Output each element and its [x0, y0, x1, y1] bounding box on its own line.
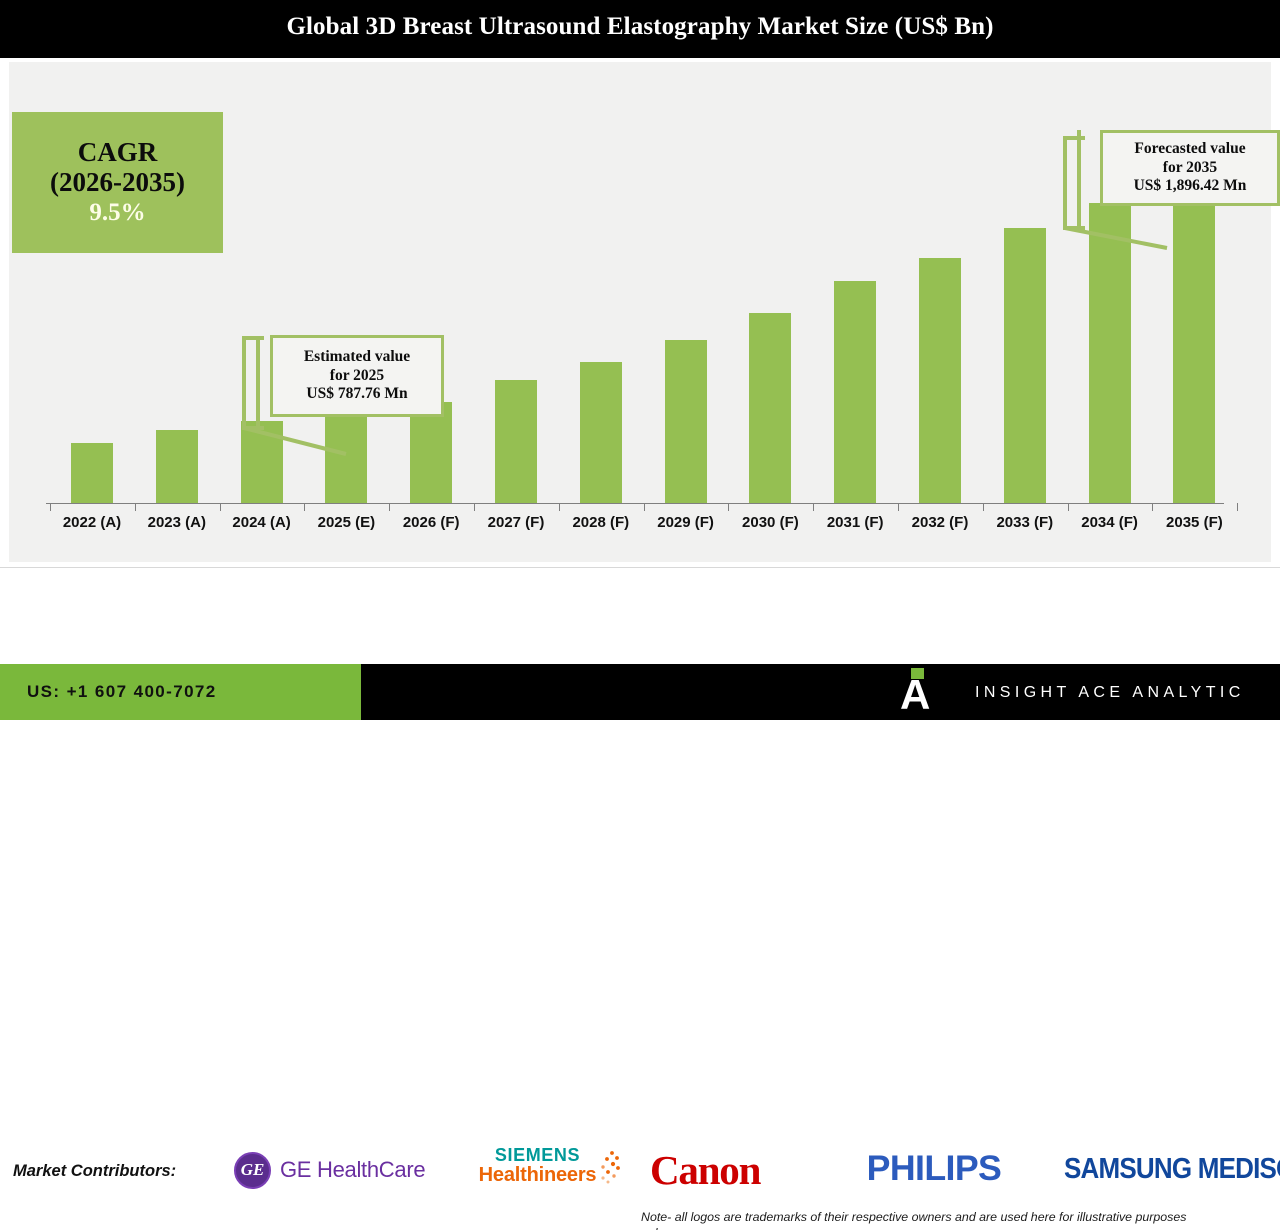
brand-name: INSIGHT ACE ANALYTIC [975, 684, 1245, 702]
forecasted-value-callout: Forecasted value for 2035 US$ 1,896.42 M… [1100, 130, 1280, 206]
ge-healthcare-logo: GE GE HealthCare [234, 1151, 425, 1189]
axis-tick [1237, 503, 1238, 511]
trademark-note-continued: only. [641, 1226, 666, 1230]
x-axis-label-2025: 2025 (E) [304, 514, 389, 531]
bar-2030 [749, 313, 791, 503]
x-axis-label-2024: 2024 (A) [219, 514, 304, 531]
bar-2028 [580, 362, 622, 503]
axis-tick [1152, 503, 1153, 511]
page-title: Global 3D Breast Ultrasound Elastography… [0, 13, 1280, 41]
market-contributors-label: Market Contributors: [13, 1162, 176, 1181]
bar-2033 [1004, 228, 1046, 503]
forecasted-callout-line1: Forecasted value [1134, 140, 1245, 159]
x-axis-label-2029: 2029 (F) [643, 514, 728, 531]
x-axis-line [46, 503, 1224, 504]
axis-tick [644, 503, 645, 511]
axis-tick [389, 503, 390, 511]
x-axis-label-2032: 2032 (F) [898, 514, 983, 531]
x-axis-label-2030: 2030 (F) [728, 514, 813, 531]
samsung-medison-logo: SAMSUNG MEDISON [1064, 1151, 1280, 1186]
cagr-label: CAGR [78, 137, 158, 167]
axis-tick [304, 503, 305, 511]
x-axis-label-2033: 2033 (F) [982, 514, 1067, 531]
phone-block: US: +1 607 400-7072 [0, 664, 361, 720]
x-axis-label-2035: 2035 (F) [1152, 514, 1237, 531]
brand-square-accent [911, 668, 924, 679]
x-axis-label-2031: 2031 (F) [813, 514, 898, 531]
ge-healthcare-wordmark: GE HealthCare [280, 1157, 425, 1183]
cagr-value: 9.5% [89, 198, 145, 228]
x-axis-label-2026: 2026 (F) [389, 514, 474, 531]
siemens-dots-icon [592, 1150, 622, 1184]
siemens-healthineers-logo: SIEMENS Healthineers [455, 1146, 620, 1186]
x-axis-label-2023: 2023 (A) [134, 514, 219, 531]
axis-tick [559, 503, 560, 511]
x-axis-label-2022: 2022 (A) [50, 514, 135, 531]
axis-tick [898, 503, 899, 511]
axis-tick [220, 503, 221, 511]
market-contributors-band: Market Contributors: GE GE HealthCare SI… [0, 567, 1280, 661]
cagr-box: CAGR (2026-2035) 9.5% [12, 112, 223, 253]
estimated-value-callout: Estimated value for 2025 US$ 787.76 Mn [270, 335, 444, 417]
x-axis-label-2028: 2028 (F) [558, 514, 643, 531]
axis-tick [728, 503, 729, 511]
bar-2031 [834, 281, 876, 503]
axis-tick [50, 503, 51, 511]
canon-logo: Canon [650, 1146, 760, 1194]
axis-tick [983, 503, 984, 511]
forecasted-callout-line3: US$ 1,896.42 Mn [1134, 177, 1247, 196]
x-axis-label-2034: 2034 (F) [1067, 514, 1152, 531]
bar-2032 [919, 258, 961, 503]
philips-logo: PHILIPS [867, 1149, 1002, 1189]
brand-letter-a: A [900, 674, 930, 716]
x-axis-label-2027: 2027 (F) [474, 514, 559, 531]
axis-tick [813, 503, 814, 511]
bar-2022 [71, 443, 113, 503]
cagr-period: (2026-2035) [50, 167, 185, 197]
estimated-callout-line1: Estimated value [304, 348, 410, 367]
chart-panel: 2022 (A)2023 (A)2024 (A)2025 (E)2026 (F)… [0, 58, 1280, 567]
forecasted-callout-line2: for 2035 [1163, 159, 1217, 178]
bar-2023 [156, 430, 198, 503]
phone-number: US: +1 607 400-7072 [27, 682, 217, 702]
axis-tick [474, 503, 475, 511]
axis-tick [1068, 503, 1069, 511]
estimated-callout-line3: US$ 787.76 Mn [306, 385, 407, 404]
title-bar: Global 3D Breast Ultrasound Elastography… [0, 0, 1280, 58]
ge-monogram-icon: GE [234, 1152, 271, 1189]
bar-2027 [495, 380, 537, 503]
trademark-note: Note- all logos are trademarks of their … [641, 1209, 1280, 1227]
estimated-callout-line2: for 2025 [330, 367, 384, 386]
bar-2029 [665, 340, 707, 503]
bar-2026 [410, 402, 452, 503]
insight-ace-logo-icon: A [900, 668, 940, 716]
axis-tick [135, 503, 136, 511]
